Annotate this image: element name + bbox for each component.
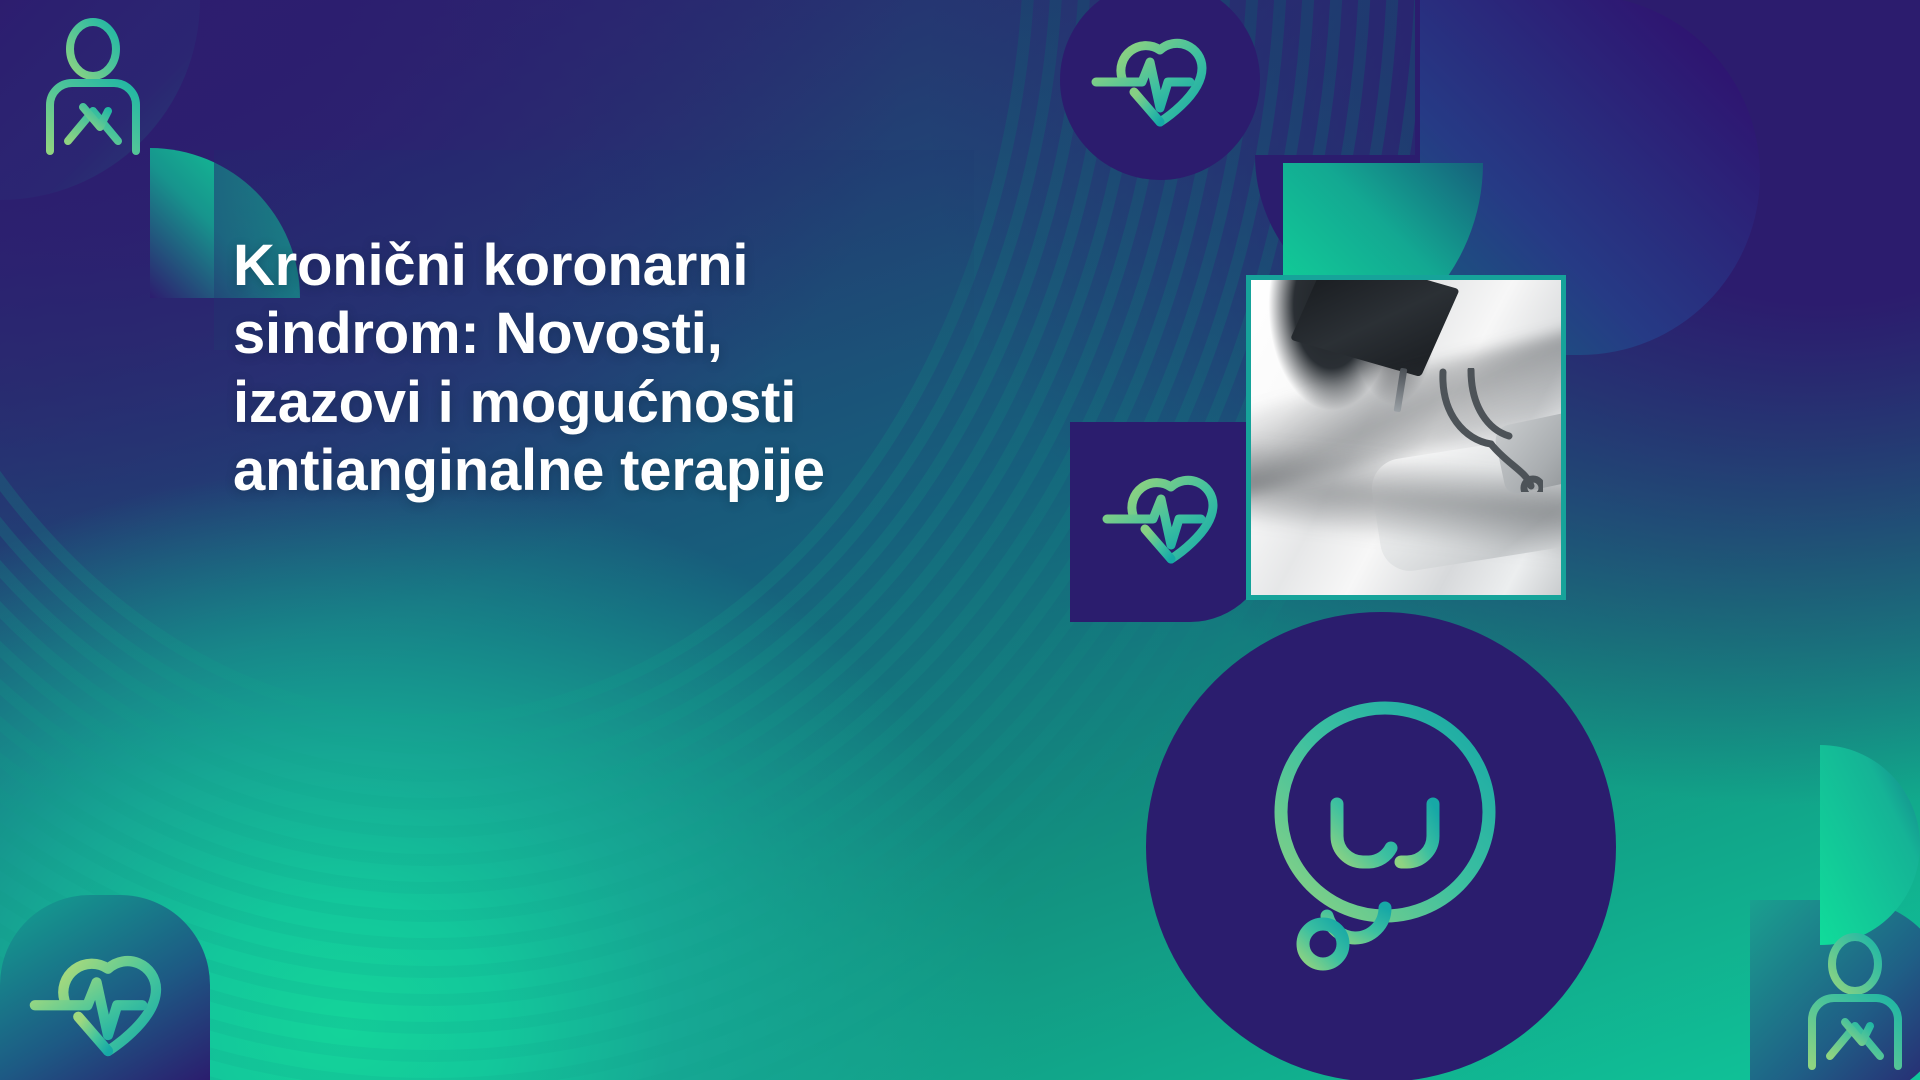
doctor-photo	[1246, 275, 1566, 600]
title-block: Kronični koronarni sindrom: Novosti, iza…	[233, 232, 953, 506]
patient-icon	[20, 10, 165, 160]
title-slide: Kronični koronarni sindrom: Novosti, iza…	[0, 0, 1920, 1080]
title-line-2: sindrom: Novosti,	[233, 300, 953, 368]
page-title: Kronični koronarni sindrom: Novosti, iza…	[233, 232, 953, 506]
stethoscope-icon	[1185, 650, 1585, 1050]
green-quarter-disc-bottom	[0, 0, 1920, 1080]
heart-pulse-icon	[18, 928, 198, 1078]
heart-pulse-icon	[1085, 15, 1235, 145]
title-line-4: antianginalne terapije	[233, 437, 953, 505]
patient-icon	[1780, 920, 1920, 1080]
stethoscope-on-coat	[1431, 368, 1543, 492]
title-line-3: izazovi i mogućnosti	[233, 369, 953, 437]
heart-pulse-icon	[1096, 452, 1246, 582]
title-line-1: Kronični koronarni	[233, 232, 953, 300]
